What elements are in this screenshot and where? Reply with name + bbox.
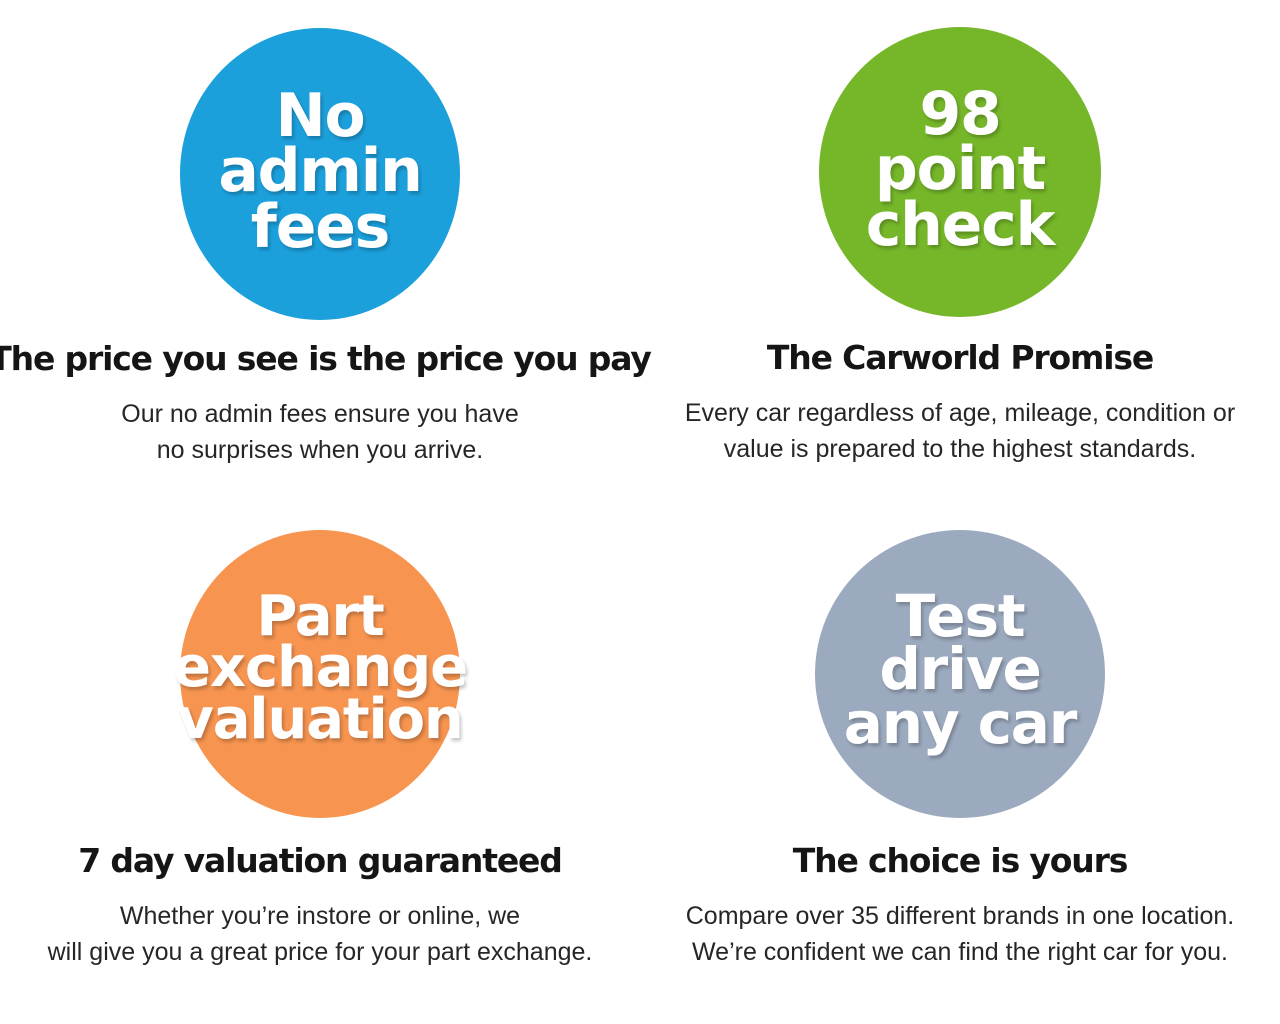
- badge-line: any car: [844, 697, 1076, 750]
- feature-body: Every car regardless of age, mileage, co…: [685, 396, 1235, 467]
- feature-body: Compare over 35 different brands in one …: [686, 899, 1235, 970]
- feature-body-line: Whether you’re instore or online, we: [48, 899, 593, 935]
- feature-heading: The choice is yours: [793, 844, 1127, 877]
- features-grid: No admin fees The price you see is the p…: [0, 0, 1280, 1024]
- feature-card-test-drive-any-car[interactable]: Test drive any car The choice is yours C…: [640, 512, 1280, 1024]
- feature-heading: 7 day valuation guaranteed: [78, 844, 561, 877]
- feature-heading: The price you see is the price you pay: [0, 342, 651, 375]
- badge-line: fees: [218, 200, 421, 255]
- feature-card-part-exchange-valuation[interactable]: Part exchange valuation 7 day valuation …: [0, 512, 640, 1024]
- badge-line: check: [866, 198, 1054, 253]
- feature-body: Our no admin fees ensure you have no sur…: [121, 397, 518, 468]
- feature-card-98-point-check[interactable]: 98 point check The Carworld Promise Ever…: [640, 0, 1280, 512]
- badge-part-exchange-valuation: Part exchange valuation: [180, 530, 460, 818]
- feature-card-no-admin-fees[interactable]: No admin fees The price you see is the p…: [0, 0, 640, 512]
- badge-text: Test drive any car: [844, 590, 1076, 750]
- badge-line: Part: [173, 591, 467, 643]
- badge-test-drive-any-car: Test drive any car: [815, 530, 1105, 818]
- badge-line: valuation: [173, 694, 467, 746]
- feature-body-line: no surprises when you arrive.: [121, 433, 518, 469]
- feature-body-line: We’re confident we can find the right ca…: [686, 935, 1235, 971]
- feature-body-line: value is prepared to the highest standar…: [685, 432, 1235, 468]
- badge-98-point-check: 98 point check: [819, 27, 1101, 317]
- badge-text: 98 point check: [866, 87, 1054, 253]
- feature-body-line: Compare over 35 different brands in one …: [686, 899, 1235, 935]
- feature-heading: The Carworld Promise: [767, 341, 1153, 374]
- feature-body: Whether you’re instore or online, we wil…: [48, 899, 593, 970]
- badge-text: No admin fees: [218, 89, 421, 255]
- badge-no-admin-fees: No admin fees: [180, 28, 460, 320]
- feature-body-line: will give you a great price for your par…: [48, 935, 593, 971]
- feature-body-line: Every car regardless of age, mileage, co…: [685, 396, 1235, 432]
- feature-body-line: Our no admin fees ensure you have: [121, 397, 518, 433]
- badge-text: Part exchange valuation: [173, 591, 467, 746]
